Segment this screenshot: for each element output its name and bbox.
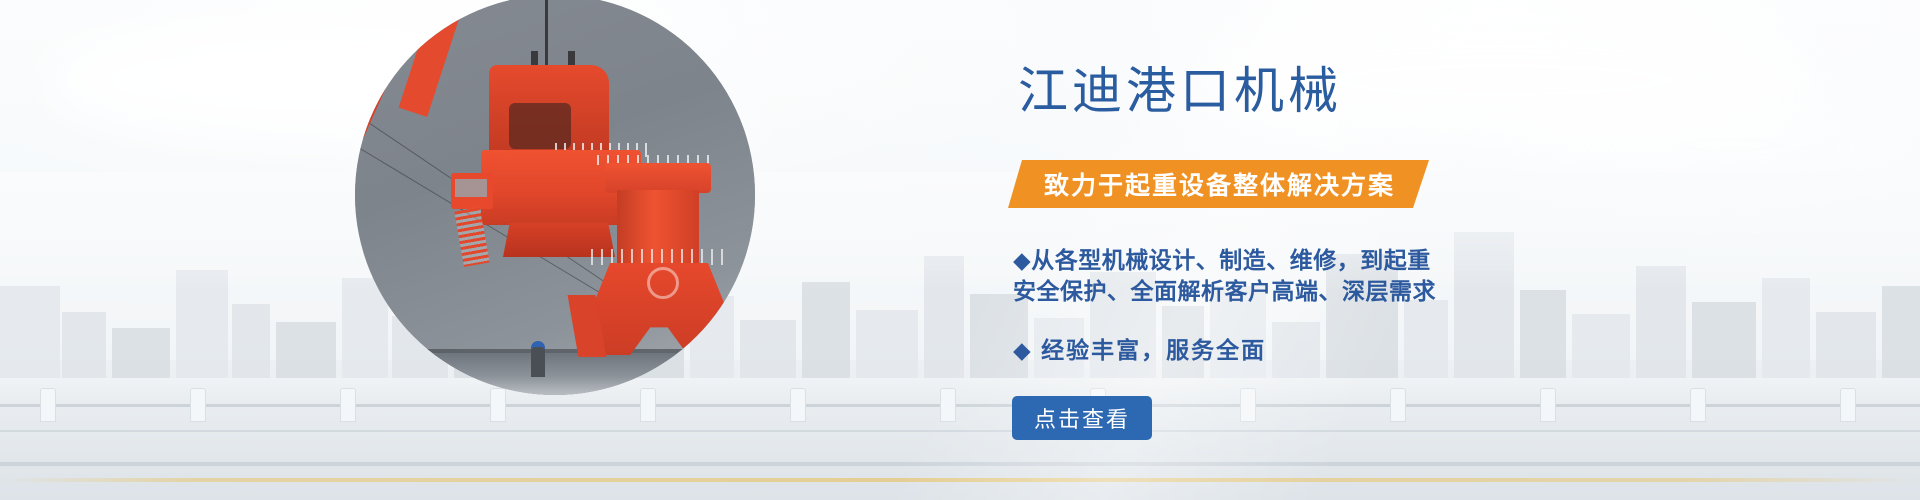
bullet-group-two: ◆ 经验丰富，服务全面 xyxy=(1013,335,1613,366)
page-title: 江迪港口机械 xyxy=(1018,62,1342,120)
cta-label: 点击查看 xyxy=(1034,402,1130,434)
tagline-text: 致力于起重设备整体解决方案 xyxy=(1044,166,1395,202)
bullet-group-one: ◆从各型机械设计、制造、维修，到起重 安全保护、全面解析客户高端、深层需求 xyxy=(1013,245,1613,307)
feature-bullets: ◆从各型机械设计、制造、维修，到起重 安全保护、全面解析客户高端、深层需求 ◆ … xyxy=(1013,245,1613,366)
worker-figure xyxy=(531,347,545,377)
bullet-line: 安全保护、全面解析客户高端、深层需求 xyxy=(1013,276,1613,307)
crane-photo-circle xyxy=(355,0,755,395)
banner-content: 江迪港口机械 致力于起重设备整体解决方案 ◆从各型机械设计、制造、维修，到起重 … xyxy=(1018,0,1638,500)
hero-banner: 江迪港口机械 致力于起重设备整体解决方案 ◆从各型机械设计、制造、维修，到起重 … xyxy=(0,0,1920,500)
bullet-line: ◆从各型机械设计、制造、维修，到起重 xyxy=(1013,245,1613,276)
tagline-ribbon: 致力于起重设备整体解决方案 xyxy=(1008,160,1429,208)
click-to-view-button[interactable]: 点击查看 xyxy=(1012,396,1152,440)
photo-water xyxy=(355,353,755,395)
bullet-line: ◆ 经验丰富，服务全面 xyxy=(1013,335,1613,366)
